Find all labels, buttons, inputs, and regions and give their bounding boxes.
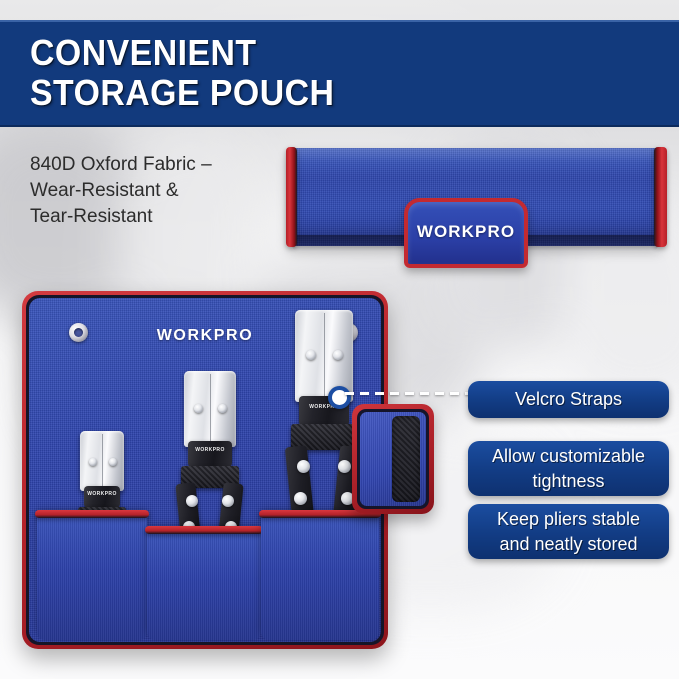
rolled-pouch-left-trim bbox=[286, 147, 297, 247]
callout-text: Velcro Straps bbox=[515, 387, 622, 412]
pliers-rivet bbox=[297, 460, 310, 473]
rolled-pouch-flap: WORKPRO bbox=[404, 198, 528, 268]
pliers-body bbox=[188, 441, 232, 467]
callout-text: Allow customizable bbox=[492, 444, 645, 469]
velcro-patch bbox=[392, 416, 420, 502]
pouch-pocket bbox=[261, 514, 379, 640]
pliers-rivet bbox=[194, 404, 203, 413]
flap-fabric bbox=[360, 412, 426, 506]
open-pouch: WORKPRO WORKPRO bbox=[22, 291, 388, 649]
open-pouch-fabric: WORKPRO WORKPRO bbox=[29, 298, 381, 642]
header-banner: CONVENIENT STORAGE POUCH bbox=[0, 20, 679, 127]
subtitle-line-3: Tear-Resistant bbox=[30, 204, 300, 230]
pouch-velcro-flap bbox=[352, 404, 434, 514]
pliers-rivet bbox=[333, 350, 343, 360]
subtitle-line-1: 840D Oxford Fabric – bbox=[30, 152, 300, 178]
subtitle-line-2: Wear-Resistant & bbox=[30, 178, 300, 204]
subtitle-block: 840D Oxford Fabric – Wear-Resistant & Te… bbox=[30, 152, 300, 230]
pliers-rivet bbox=[338, 460, 351, 473]
header-text-block: CONVENIENT STORAGE POUCH bbox=[30, 33, 354, 113]
callout-pill-customizable-tightness: Allow customizable tightness bbox=[468, 441, 669, 496]
pliers-rivet bbox=[186, 495, 198, 507]
pliers-rivet bbox=[89, 458, 97, 466]
pliers-rivet bbox=[222, 495, 234, 507]
headline-line-1: CONVENIENT bbox=[30, 33, 334, 73]
product-infographic: CONVENIENT STORAGE POUCH 840D Oxford Fab… bbox=[0, 0, 679, 679]
headline-line-2: STORAGE POUCH bbox=[30, 73, 334, 113]
callout-text: tightness bbox=[492, 469, 645, 494]
rolled-pouch-logo: WORKPRO bbox=[408, 222, 524, 242]
pliers-jaw bbox=[80, 431, 124, 491]
pliers-brand-mark: WORKPRO bbox=[188, 447, 232, 453]
callout-anchor-dot bbox=[328, 386, 351, 409]
pliers-rivet bbox=[294, 492, 307, 505]
pliers-body bbox=[84, 486, 120, 508]
callout-pill-stable-storage: Keep pliers stable and neatly stored bbox=[468, 504, 669, 559]
callout-pill-velcro-straps: Velcro Straps bbox=[468, 381, 669, 418]
rolled-pouch: WORKPRO bbox=[278, 143, 674, 252]
pouch-pocket bbox=[147, 530, 261, 640]
pliers-jaw bbox=[184, 371, 236, 447]
pliers-brand-mark: WORKPRO bbox=[84, 491, 120, 497]
callout-text: Keep pliers stable bbox=[497, 507, 640, 532]
callout-leader-line bbox=[345, 392, 470, 395]
callout-text: and neatly stored bbox=[497, 532, 640, 557]
pliers-rivet bbox=[109, 458, 117, 466]
pouch-pocket bbox=[37, 514, 147, 640]
rolled-pouch-right-trim bbox=[654, 147, 667, 247]
pliers-rivet bbox=[306, 350, 316, 360]
pliers-rivet bbox=[218, 404, 227, 413]
